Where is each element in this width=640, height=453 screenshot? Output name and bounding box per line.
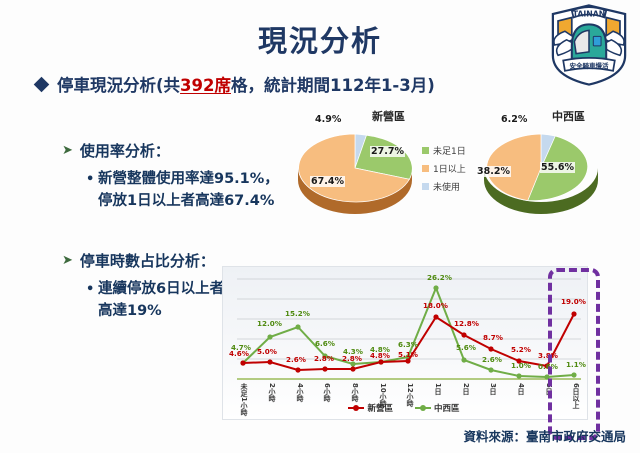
- tainan-helmet-logo: TAINAN 安全騎車慢活: [546, 2, 632, 88]
- label-zhongxi-12: 1.1%: [566, 360, 586, 369]
- label-xinying-0: 4.6%: [229, 349, 249, 358]
- legend-item-xinying: 新營區: [348, 402, 393, 414]
- label-zhongxi-1: 12.0%: [257, 319, 282, 328]
- section1-heading: ➤ 使用率分析：: [62, 140, 170, 161]
- line-chart-parking-duration: 4.7% 12.0% 15.2% 6.6% 4.3% 4.8% 6.3% 26.…: [222, 266, 588, 420]
- legend-marker-xinying: [348, 407, 364, 409]
- label-zhongxi-2: 15.2%: [285, 309, 310, 318]
- section2-heading-label: 停車時數占比分析：: [80, 250, 215, 271]
- label-zhongxi-11: 0.6%: [538, 362, 558, 371]
- label-xinying-2: 2.6%: [286, 355, 306, 364]
- label-xinying-10: 5.2%: [511, 345, 531, 354]
- label-zhongxi-3: 6.6%: [315, 339, 335, 348]
- legend-swatch-blue: [422, 183, 429, 190]
- legend-label-under1day: 未足1日: [433, 144, 466, 157]
- pie-chart-zhongxi: 中西區 6.2% 55.6% 38.2%: [468, 108, 638, 226]
- slide-canvas: 現況分析 TAINAN 安全騎車慢活 停車現況分析(共392席格，統計期間112…: [0, 0, 640, 453]
- label-zhongxi-6: 6.3%: [398, 340, 418, 349]
- arrow-bullet-icon: ➤: [62, 143, 73, 158]
- section2-item-line1: 連續停放6日以上者: [98, 281, 224, 297]
- diamond-bullet-icon: [34, 76, 50, 92]
- dot-bullet-icon-2: •: [86, 280, 98, 300]
- line-chart-legend: 新營區 中西區: [222, 398, 586, 418]
- pie-legend-item-over1day: 1日以上: [422, 162, 466, 175]
- label-xinying-12: 19.0%: [561, 297, 586, 306]
- pie-chart-xinying: 新營區 4.9% 27.7% 67.4% 未足1日 1日以上 未使用: [290, 108, 470, 226]
- legend-swatch-green: [422, 147, 429, 154]
- bullet-level1-post: 格，統計期間112年1-3月): [231, 76, 435, 95]
- source-note: 資料來源：臺南市政府交通局: [463, 426, 626, 445]
- legend-label-zhongxi: 中西區: [434, 402, 460, 414]
- logo-top-text: TAINAN: [573, 10, 605, 19]
- label-zhongxi-10: 1.0%: [511, 361, 531, 370]
- page-title: 現況分析: [0, 18, 640, 60]
- pie-xinying-label-unused: 4.9%: [314, 114, 342, 125]
- bullet-level1: 停車現況分析(共392席格，統計期間112年1-3月): [36, 72, 435, 96]
- label-xinying-7: 18.0%: [423, 301, 448, 310]
- section2-item: •連續停放6日以上者 高達19%: [86, 278, 224, 323]
- pie-xinying-label-under1day: 27.7%: [370, 146, 405, 157]
- x-label-8: 2日: [461, 383, 471, 395]
- label-xinying-1: 5.0%: [257, 347, 277, 356]
- label-xinying-8: 12.8%: [454, 319, 479, 328]
- bullet-level1-pre: 停車現況分析(共: [57, 76, 180, 95]
- section1-item: •新營整體使用率達95.1%， 停放1日以上者高達67.4%: [86, 168, 279, 213]
- pie-chart-xinying-graphic: [290, 122, 420, 222]
- legend-marker-zhongxi: [415, 407, 431, 409]
- label-zhongxi-7: 26.2%: [427, 273, 452, 282]
- dot-bullet-icon: •: [86, 170, 98, 190]
- pie-legend-xinying: 未足1日 1日以上 未使用: [422, 144, 466, 198]
- logo-bottom-text: 安全騎車慢活: [569, 61, 609, 70]
- section2-heading: ➤ 停車時數占比分析：: [62, 250, 215, 271]
- legend-swatch-orange: [422, 165, 429, 172]
- legend-label-xinying: 新營區: [367, 402, 393, 414]
- section1-heading-label: 使用率分析：: [80, 140, 170, 161]
- label-xinying-11: 3.8%: [538, 351, 558, 360]
- arrow-bullet-icon-2: ➤: [62, 253, 73, 268]
- legend-item-zhongxi: 中西區: [415, 402, 460, 414]
- section1-item-line2: 停放1日以上者高達67.4%: [98, 193, 274, 209]
- x-label-11: 5日: [544, 383, 554, 395]
- legend-label-over1day: 1日以上: [433, 162, 466, 175]
- x-label-9: 3日: [488, 383, 498, 395]
- x-label-7: 1日: [433, 383, 443, 395]
- bullet-level1-highlight: 392席: [180, 76, 231, 95]
- section1-item-line1: 新營整體使用率達95.1%，: [98, 171, 279, 187]
- label-xinying-5: 4.8%: [370, 351, 390, 360]
- pie-legend-item-unused: 未使用: [422, 180, 466, 193]
- label-xinying-3: 2.8%: [314, 354, 334, 363]
- section2-item-line2: 高達19%: [98, 303, 162, 319]
- legend-label-unused: 未使用: [433, 180, 460, 193]
- x-label-10: 4日: [516, 383, 526, 395]
- label-zhongxi-9: 2.6%: [482, 355, 502, 364]
- label-xinying-9: 8.7%: [483, 333, 503, 342]
- pie-zhongxi-label-unused: 6.2%: [500, 114, 528, 125]
- label-xinying-4: 2.8%: [342, 354, 362, 363]
- pie-legend-item-under1day: 未足1日: [422, 144, 466, 157]
- label-xinying-6: 5.1%: [398, 350, 418, 359]
- pie-zhongxi-label-under1day: 55.6%: [540, 162, 575, 173]
- pie-zhongxi-label-over1day: 38.2%: [476, 166, 511, 177]
- label-zhongxi-8: 5.6%: [456, 343, 476, 352]
- pie-xinying-label-over1day: 67.4%: [310, 176, 345, 187]
